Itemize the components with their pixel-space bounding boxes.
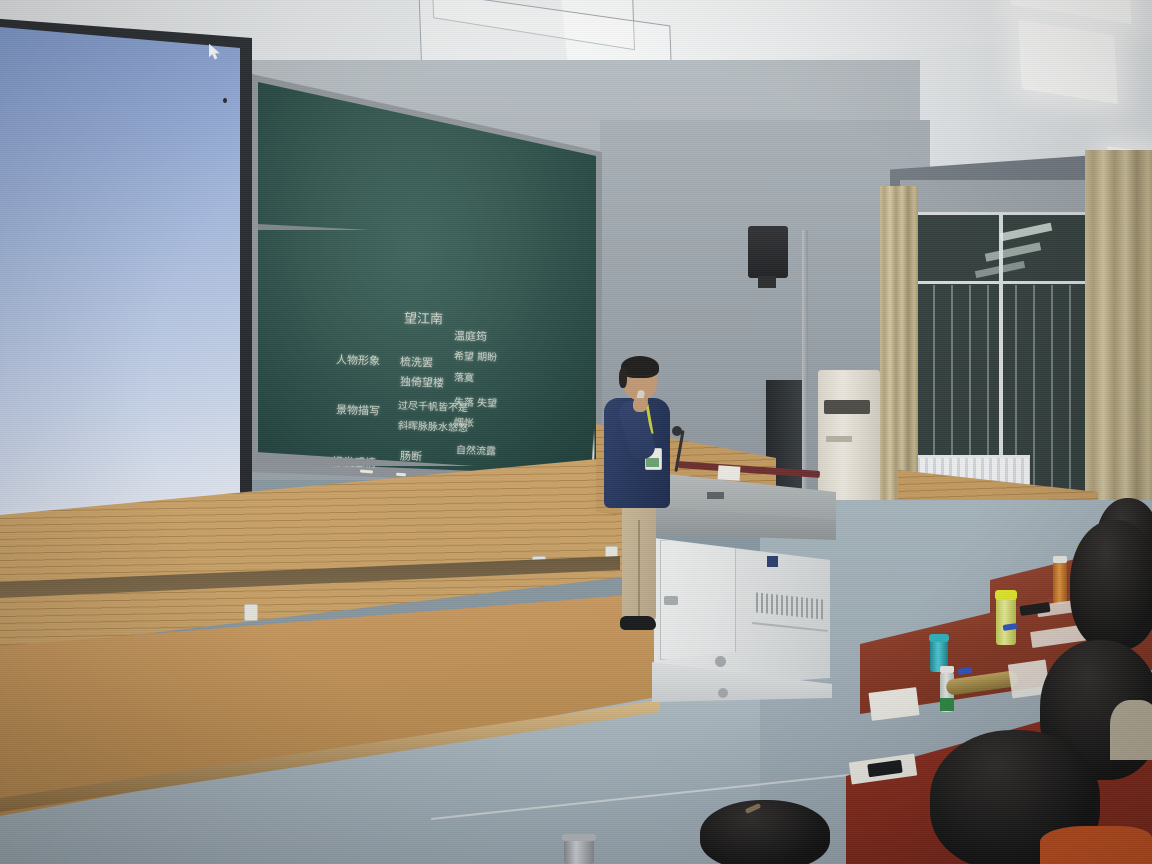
bb-quote-1a: 梳洗罢 bbox=[400, 353, 434, 370]
orange-tea-bottle[interactable] bbox=[1053, 562, 1067, 604]
audience-shoulder bbox=[1110, 700, 1152, 760]
podium-paper bbox=[718, 465, 741, 481]
wall-outlet[interactable] bbox=[244, 604, 258, 621]
lesson-title: 望江南 bbox=[404, 307, 443, 327]
clear-water-bottle-cap[interactable] bbox=[940, 666, 954, 673]
bb-quote-1b: 独倚望楼 bbox=[400, 373, 445, 391]
water-bottle-label bbox=[940, 698, 954, 711]
air-conditioner-display bbox=[824, 400, 870, 414]
teal-cup-cap[interactable] bbox=[929, 634, 949, 642]
blackboard-writing: 望江南 温庭筠 人物形象 梳洗罢 希望 期盼 独倚望楼 落寞 景物描写 过尽千帆… bbox=[258, 76, 596, 474]
bb-note-1b: 落寞 bbox=[454, 369, 475, 385]
eyeglasses bbox=[626, 375, 654, 382]
bb-category-1: 人物形象 bbox=[336, 351, 381, 369]
speaker-hand bbox=[633, 398, 647, 412]
mouse-cursor-icon bbox=[209, 44, 222, 66]
podium-door-handle[interactable] bbox=[664, 596, 678, 605]
window-security-bar bbox=[1069, 285, 1071, 505]
speaker-trouser-crease bbox=[638, 520, 640, 616]
thermos-cup[interactable] bbox=[564, 838, 594, 864]
yellow-cap-bottle-cap[interactable] bbox=[995, 590, 1017, 600]
notebook[interactable] bbox=[868, 687, 919, 721]
screen-artifact-dot bbox=[223, 98, 227, 103]
audience-head bbox=[1070, 520, 1152, 650]
id-badge-graphic bbox=[646, 458, 659, 467]
podium-label bbox=[707, 492, 724, 499]
audience-head bbox=[700, 800, 830, 864]
bb-note-3a: 自然流露 bbox=[456, 441, 496, 457]
window-security-bar bbox=[1033, 285, 1035, 505]
yellow-cap-bottle[interactable] bbox=[996, 597, 1016, 645]
podium-caster bbox=[715, 656, 726, 667]
window-transom-bar bbox=[915, 281, 1091, 284]
podium-caster bbox=[718, 688, 728, 698]
gooseneck-microphone-head bbox=[672, 426, 682, 436]
audience-shoulder bbox=[1040, 826, 1152, 864]
orange-tea-bottle-cap[interactable] bbox=[1053, 556, 1067, 563]
bb-note-1a: 希望 期盼 bbox=[454, 347, 498, 363]
wall-speaker bbox=[748, 226, 788, 278]
lesson-subtitle: 温庭筠 bbox=[454, 327, 487, 344]
speaker-bracket bbox=[758, 276, 776, 288]
speaker-shoe bbox=[620, 616, 656, 630]
classroom-photo: 望江南 温庭筠 人物形象 梳洗罢 希望 期盼 独倚望楼 落寞 景物描写 过尽千帆… bbox=[0, 0, 1152, 864]
wall-conduit-pipe bbox=[802, 230, 808, 490]
curtain-left bbox=[880, 186, 918, 516]
air-conditioner-badge bbox=[826, 436, 852, 442]
bb-note-2a: 失落 失望 bbox=[454, 393, 498, 409]
thermos-cup-lid[interactable] bbox=[562, 834, 596, 841]
bb-note-2b: 惆怅 bbox=[454, 414, 475, 430]
window-security-bar bbox=[1051, 285, 1053, 505]
chalk-piece bbox=[396, 473, 406, 477]
podium-equipment-badge bbox=[767, 556, 778, 567]
bb-category-2: 景物描写 bbox=[336, 401, 381, 419]
curtain-right bbox=[1085, 150, 1152, 550]
